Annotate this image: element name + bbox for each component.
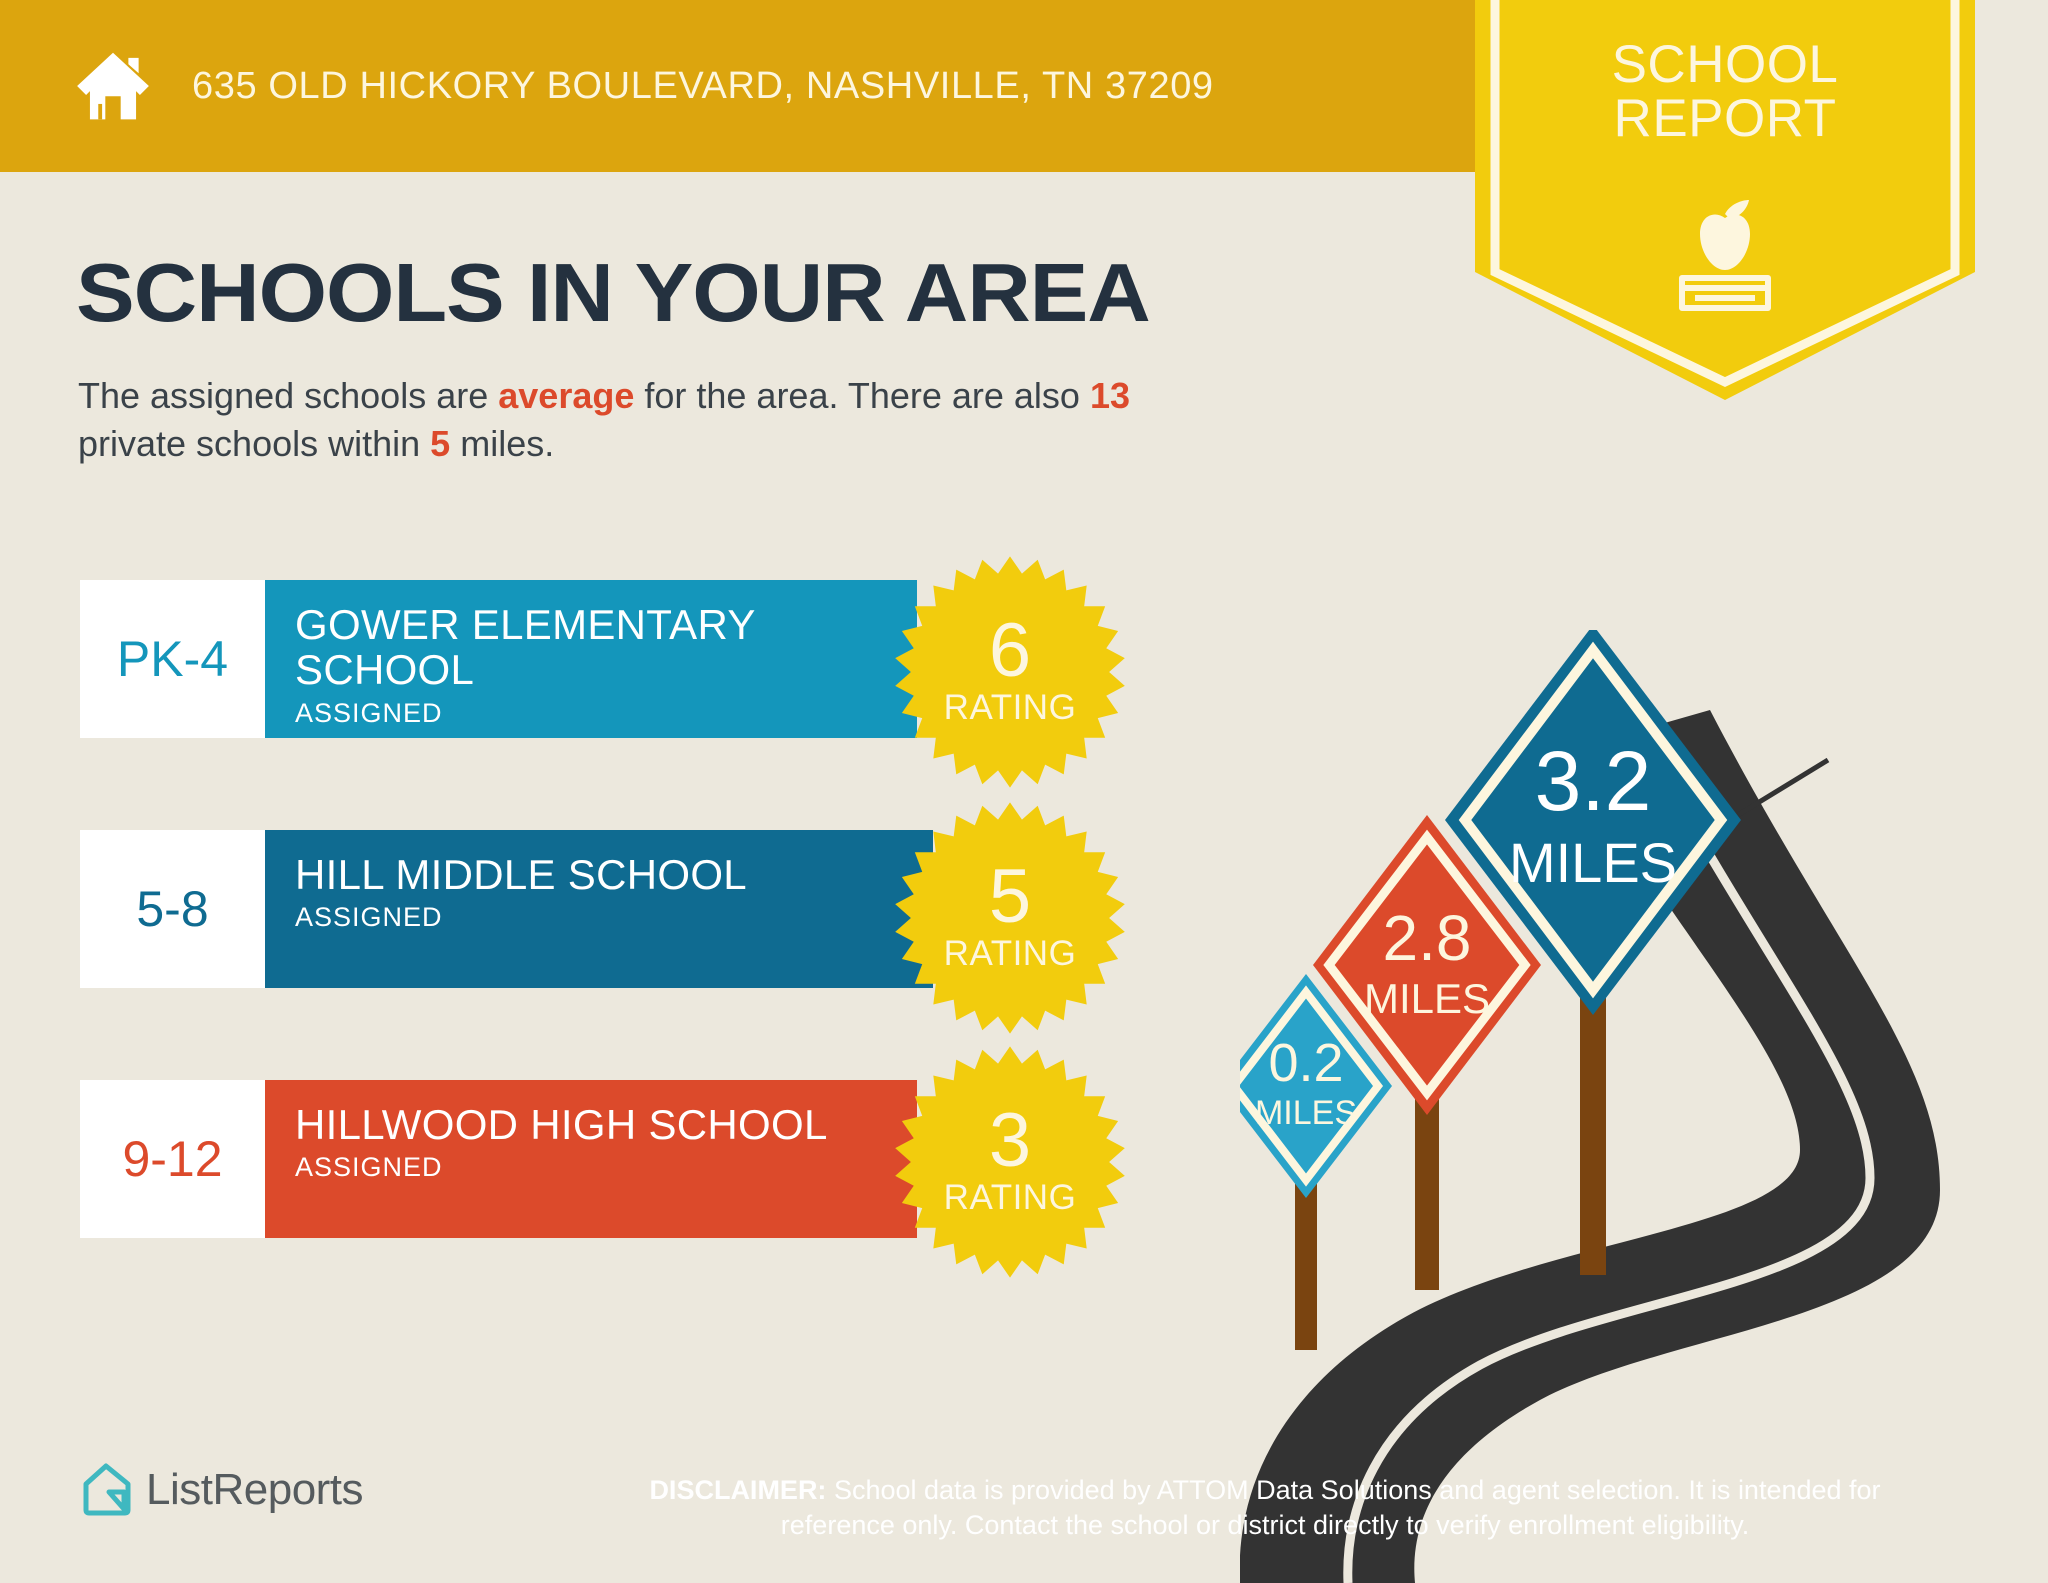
subtitle-part-3: private schools within bbox=[78, 423, 430, 464]
starburst-shape bbox=[892, 554, 1128, 790]
school-info-box: HILL MIDDLE SCHOOL ASSIGNED bbox=[265, 830, 933, 988]
sign-distance-unit: MILES bbox=[1509, 831, 1677, 894]
home-icon bbox=[72, 45, 154, 127]
disclaimer-label: DISCLAIMER: bbox=[649, 1475, 826, 1505]
starburst-shape bbox=[892, 1044, 1128, 1280]
school-row[interactable]: 9-12 HILLWOOD HIGH SCHOOL ASSIGNED bbox=[80, 1080, 917, 1238]
sign-distance-value: 0.2 bbox=[1268, 1033, 1343, 1093]
road-signs-illustration: 3.2 MILES 2.8 MILES 0.2 MILES bbox=[1240, 630, 2048, 1583]
school-report-badge: SCHOOL REPORT bbox=[1475, 0, 1975, 400]
infographic-page: 635 OLD HICKORY BOULEVARD, NASHVILLE, TN… bbox=[0, 0, 2048, 1583]
grade-range-box: 5-8 bbox=[80, 830, 265, 988]
listreports-logo[interactable]: ListReports bbox=[80, 1462, 363, 1518]
grade-range-label: PK-4 bbox=[117, 630, 228, 688]
header-bar: 635 OLD HICKORY BOULEVARD, NASHVILLE, TN… bbox=[0, 0, 1497, 172]
school-info-box: GOWER ELEMENTARY SCHOOL ASSIGNED bbox=[265, 580, 917, 738]
badge-label: SCHOOL REPORT bbox=[1475, 38, 1975, 146]
subtitle-part-1: The assigned schools are bbox=[78, 375, 498, 416]
subtitle-highlight-radius: 5 bbox=[430, 423, 450, 464]
listreports-logo-text: ListReports bbox=[146, 1465, 363, 1515]
rating-badge: 5 RATING bbox=[892, 800, 1128, 1036]
rating-badge: 6 RATING bbox=[892, 554, 1128, 790]
school-row[interactable]: PK-4 GOWER ELEMENTARY SCHOOL ASSIGNED bbox=[80, 580, 917, 738]
subtitle-summary: The assigned schools are average for the… bbox=[78, 372, 1138, 467]
badge-line-2: REPORT bbox=[1475, 92, 1975, 146]
rating-badge: 3 RATING bbox=[892, 1044, 1128, 1280]
school-row[interactable]: 5-8 HILL MIDDLE SCHOOL ASSIGNED bbox=[80, 830, 933, 988]
subtitle-highlight-count: 13 bbox=[1090, 375, 1130, 416]
sign-distance-unit: MILES bbox=[1255, 1094, 1357, 1132]
apple-icon bbox=[1700, 215, 1750, 270]
listreports-house-icon bbox=[80, 1462, 132, 1518]
subtitle-highlight-average: average bbox=[498, 375, 634, 416]
subtitle-part-4: miles. bbox=[450, 423, 554, 464]
school-name: HILLWOOD HIGH SCHOOL bbox=[295, 1102, 855, 1147]
page-title: SCHOOLS IN YOUR AREA bbox=[76, 245, 1150, 341]
school-status: ASSIGNED bbox=[295, 902, 933, 933]
disclaimer: DISCLAIMER: School data is provided by A… bbox=[600, 1473, 1930, 1543]
starburst-shape bbox=[892, 800, 1128, 1036]
school-info-box: HILLWOOD HIGH SCHOOL ASSIGNED bbox=[265, 1080, 917, 1238]
book-icon bbox=[1682, 278, 1768, 308]
school-name: HILL MIDDLE SCHOOL bbox=[295, 852, 855, 897]
grade-range-label: 5-8 bbox=[136, 880, 208, 938]
grade-range-box: PK-4 bbox=[80, 580, 265, 738]
subtitle-part-2: for the area. There are also bbox=[634, 375, 1090, 416]
school-status: ASSIGNED bbox=[295, 698, 917, 729]
grade-range-label: 9-12 bbox=[122, 1130, 222, 1188]
sign-distance-value: 2.8 bbox=[1383, 902, 1472, 974]
disclaimer-text: School data is provided by ATTOM Data So… bbox=[781, 1475, 1881, 1540]
starburst-polygon bbox=[895, 1046, 1125, 1277]
badge-line-1: SCHOOL bbox=[1475, 38, 1975, 92]
apple-and-book-icon bbox=[1650, 196, 1800, 316]
sign-distance-unit: MILES bbox=[1364, 975, 1490, 1022]
school-status: ASSIGNED bbox=[295, 1152, 917, 1183]
grade-range-box: 9-12 bbox=[80, 1080, 265, 1238]
starburst-polygon bbox=[895, 802, 1125, 1033]
road-graphic: 3.2 MILES 2.8 MILES 0.2 MILES bbox=[1240, 630, 2048, 1583]
property-address: 635 OLD HICKORY BOULEVARD, NASHVILLE, TN… bbox=[192, 65, 1214, 108]
starburst-polygon bbox=[895, 556, 1125, 787]
sign-distance-value: 3.2 bbox=[1535, 734, 1652, 828]
school-name: GOWER ELEMENTARY SCHOOL bbox=[295, 602, 855, 693]
